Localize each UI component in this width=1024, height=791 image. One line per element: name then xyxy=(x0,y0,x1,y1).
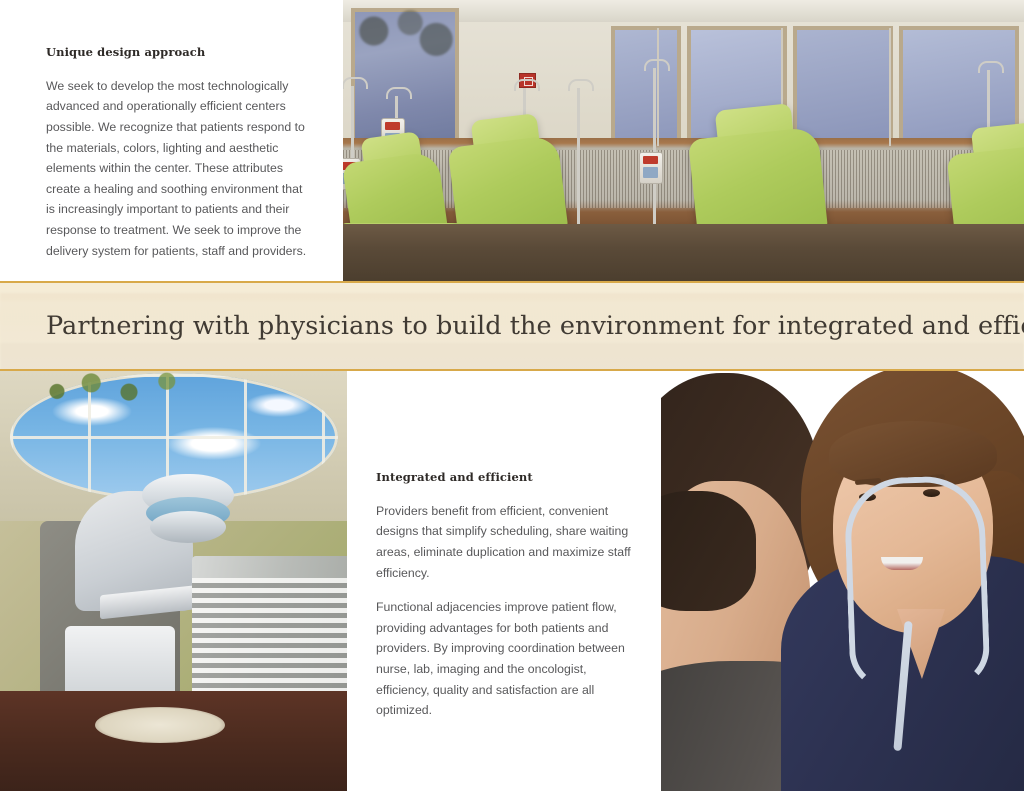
glass-divider xyxy=(657,28,659,146)
brochure-page: Unique design approach We seek to develo… xyxy=(0,0,1024,791)
foliage xyxy=(353,10,457,80)
floor-inlay xyxy=(95,707,225,743)
clinician-and-patient-photo xyxy=(661,371,1024,791)
top-text-column: Unique design approach We seek to develo… xyxy=(0,0,343,281)
infusion-therapy-suite-photo xyxy=(343,0,1024,285)
foliage xyxy=(30,371,210,405)
top-section-paragraph: We seek to develop the most technologica… xyxy=(46,76,313,261)
banner-strip: Partnering with physicians to build the … xyxy=(0,281,1024,371)
linear-accelerator-room-photo xyxy=(0,371,347,791)
patient-hair-lower xyxy=(661,491,756,611)
bottom-section-paragraph-1: Providers benefit from efficient, conven… xyxy=(376,501,636,583)
glass-divider xyxy=(889,28,891,146)
infusion-scene xyxy=(343,0,1024,285)
stethoscope-icon xyxy=(843,475,990,692)
banner-headline: Partnering with physicians to build the … xyxy=(46,311,1024,341)
floor xyxy=(343,224,1024,285)
treatment-head-aperture xyxy=(150,511,226,543)
bottom-text-column: Integrated and efficient Providers benef… xyxy=(347,371,661,791)
infusion-pump xyxy=(639,152,663,184)
top-section-heading: Unique design approach xyxy=(46,46,313,60)
bottom-section-heading: Integrated and efficient xyxy=(376,471,636,485)
window-icon xyxy=(611,26,681,144)
bottom-section-paragraph-2: Functional adjacencies improve patient f… xyxy=(376,597,636,721)
